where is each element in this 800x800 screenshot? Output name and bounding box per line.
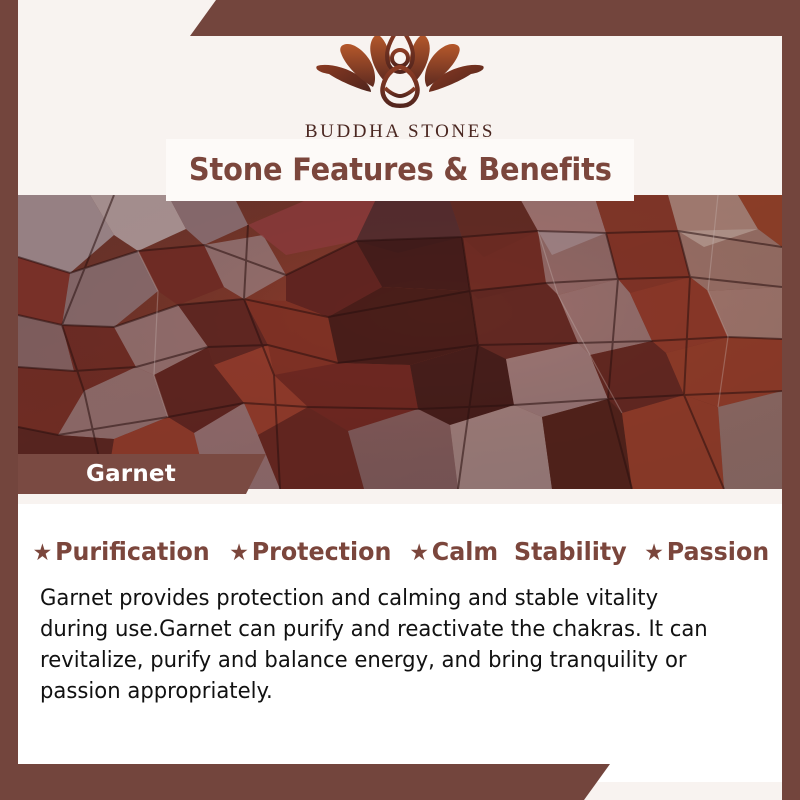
- feature-list: ★Purification★Protection★CalmStability★P…: [18, 537, 782, 566]
- stone-info-card: BUDDHA STONES: [0, 0, 800, 800]
- frame-right-band: [782, 0, 800, 800]
- feature-item-passion: ★Passion: [644, 537, 769, 566]
- brand-logo: BUDDHA STONES: [18, 22, 782, 143]
- page-title-banner: Stone Features & Benefits: [166, 139, 634, 201]
- star-icon: ★: [409, 540, 429, 566]
- star-icon: ★: [32, 540, 52, 566]
- stone-name-tag: Garnet: [18, 454, 266, 494]
- star-icon: ★: [644, 540, 664, 566]
- feature-item-purification: ★Purification: [32, 537, 209, 566]
- stone-name: Garnet: [86, 461, 176, 487]
- garnet-photo: [18, 195, 782, 489]
- feature-item-protection: ★Protection: [229, 537, 391, 566]
- feature-label: Stability: [514, 537, 627, 566]
- star-icon: ★: [229, 540, 249, 566]
- feature-label: Purification: [55, 537, 210, 566]
- lotus-meditation-icon: [18, 22, 782, 119]
- feature-label: Passion: [667, 537, 769, 566]
- feature-item-calm: ★Calm: [409, 537, 498, 566]
- stone-description: Garnet provides protection and calming a…: [40, 583, 715, 707]
- feature-label: Protection: [252, 537, 392, 566]
- description-panel: ★Purification★Protection★CalmStability★P…: [18, 489, 782, 782]
- page-title: Stone Features & Benefits: [189, 152, 612, 188]
- feature-item-stability: Stability: [514, 537, 627, 566]
- frame-left-band: [0, 0, 18, 800]
- feature-label: Calm: [431, 537, 497, 566]
- card-inner: BUDDHA STONES: [18, 18, 782, 782]
